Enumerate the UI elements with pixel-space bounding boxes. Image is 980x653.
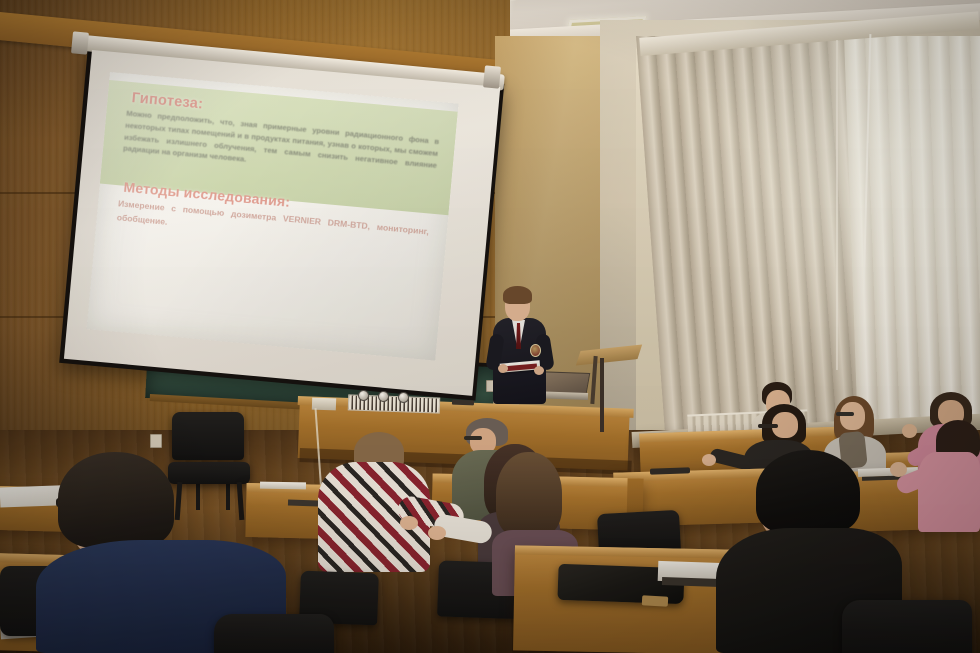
- screen-bracket: [71, 31, 89, 54]
- window: [636, 36, 980, 446]
- papers: [260, 482, 306, 490]
- apparatus-bulb-icon: [378, 391, 389, 402]
- presenter-hand: [534, 366, 544, 375]
- apparatus-bulb-icon: [398, 392, 409, 403]
- glasses-icon: [758, 424, 778, 428]
- power-outlet: [150, 434, 162, 448]
- classroom-photo: Гипотеза: Можно предположить, что, зная …: [0, 0, 980, 653]
- hand: [702, 454, 716, 466]
- chair-leg: [226, 480, 230, 510]
- phone-icon: [288, 499, 318, 506]
- torso: [918, 452, 980, 532]
- blind-cord[interactable]: [836, 40, 838, 370]
- hand: [428, 526, 446, 540]
- hand: [400, 516, 418, 530]
- glasses-icon: [464, 436, 482, 440]
- hair: [496, 452, 562, 538]
- hand: [890, 462, 907, 477]
- chair-back[interactable]: [214, 614, 334, 653]
- window-glow: [636, 36, 980, 446]
- presenter-hand: [498, 364, 508, 373]
- phone-icon: [452, 400, 474, 406]
- empty-chair-seat[interactable]: [168, 462, 250, 484]
- chair-back[interactable]: [842, 600, 972, 653]
- head: [840, 402, 865, 430]
- hand: [902, 424, 917, 438]
- glasses-icon: [836, 412, 854, 416]
- hair: [58, 452, 174, 548]
- hair: [756, 450, 860, 534]
- presentation-slide: Гипотеза: Можно предположить, что, зная …: [87, 72, 459, 361]
- screen-bracket: [483, 65, 501, 88]
- apparatus-bulb-icon: [358, 390, 369, 401]
- lectern-post: [600, 358, 604, 432]
- school-emblem-icon: [530, 344, 541, 357]
- presenter-hair: [503, 286, 532, 304]
- pencil-case: [642, 595, 668, 606]
- empty-chair-back[interactable]: [172, 412, 244, 460]
- chair-leg: [196, 480, 200, 510]
